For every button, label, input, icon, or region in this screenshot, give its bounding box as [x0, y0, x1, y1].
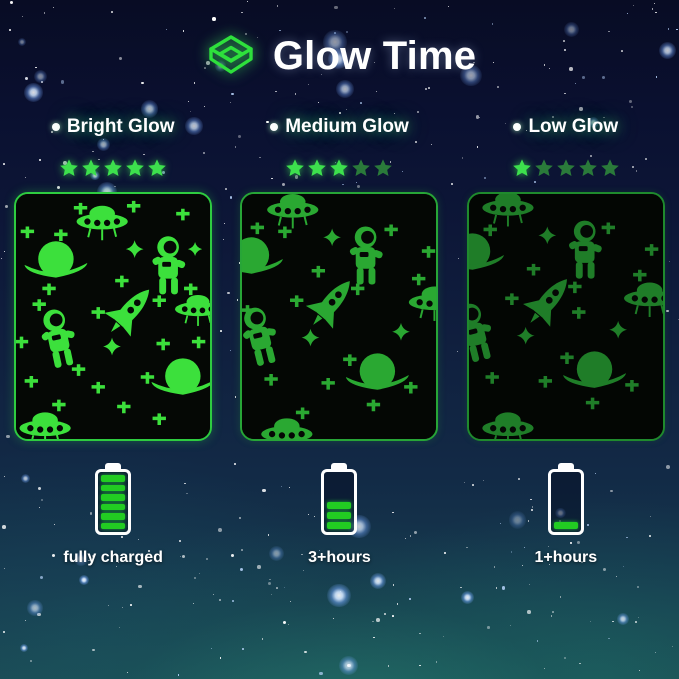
- battery-group-bright: fully charged: [63, 469, 163, 567]
- glow-mode-column-bright: Bright Glow: [0, 116, 226, 636]
- star-dot: [639, 670, 640, 671]
- battery-bar: [327, 502, 351, 509]
- star-dot: [608, 638, 610, 640]
- blanket-preview-bright: [14, 192, 212, 441]
- star-dot: [92, 649, 95, 652]
- star-dot: [631, 106, 633, 108]
- mode-label-text: Low Glow: [528, 116, 618, 138]
- star-dot: [579, 107, 582, 110]
- star-dot: [448, 6, 449, 7]
- star-dot: [564, 93, 566, 95]
- star-dot: [127, 672, 129, 674]
- battery-bar: [101, 513, 125, 520]
- battery-icon: [548, 469, 584, 535]
- battery-group-low: 1+hours: [534, 469, 597, 567]
- glow-star: [24, 83, 43, 102]
- star-dot: [44, 12, 46, 14]
- star-dim-icon: [556, 158, 576, 178]
- star-dot: [211, 648, 212, 649]
- star-dot: [425, 88, 427, 90]
- star-filled-icon: [512, 158, 532, 178]
- dot-icon: [270, 123, 278, 131]
- star-dim-icon: [600, 158, 620, 178]
- star-dot: [212, 17, 216, 21]
- star-rating-low: [512, 158, 620, 178]
- glow-mode-columns: Bright Glow: [0, 116, 679, 636]
- star-dot: [10, 1, 14, 5]
- star-dot: [652, 8, 654, 10]
- star-filled-icon: [147, 158, 167, 178]
- page-title: Glow Time: [273, 34, 476, 79]
- blanket-preview-low: [467, 192, 665, 441]
- star-dot: [295, 93, 297, 95]
- star-dot: [53, 7, 54, 8]
- star-dot: [346, 109, 347, 110]
- glow-mode-column-low: Low Glow: [453, 116, 679, 636]
- star-dot: [492, 23, 494, 25]
- star-dot: [111, 11, 113, 13]
- dot-icon: [513, 123, 521, 131]
- star-dot: [334, 6, 338, 10]
- star-dot: [190, 111, 191, 112]
- star-dot: [319, 672, 323, 676]
- mode-label-text: Bright Glow: [67, 116, 175, 138]
- star-dot: [247, 1, 248, 2]
- battery-group-medium: 3+hours: [308, 469, 371, 567]
- star-dot: [230, 102, 231, 103]
- glow-star: [141, 100, 159, 118]
- glow-time-infographic: Glow Time Bright Glow: [0, 0, 679, 679]
- battery-label: 1+hours: [534, 549, 597, 567]
- star-dot: [394, 113, 395, 114]
- battery-icon: [321, 469, 357, 535]
- star-dot: [428, 87, 430, 89]
- star-dot: [388, 665, 389, 666]
- dot-icon: [52, 123, 60, 131]
- star-dot: [241, 12, 243, 14]
- battery-bar: [101, 504, 125, 511]
- star-dot: [304, 651, 307, 654]
- star-dot: [262, 638, 264, 640]
- star-dot: [497, 86, 499, 88]
- star-dot: [30, 660, 32, 662]
- star-filled-icon: [329, 158, 349, 178]
- battery-bar: [101, 494, 125, 501]
- battery-bar: [327, 522, 351, 529]
- star-filled-icon: [81, 158, 101, 178]
- star-dot: [579, 663, 581, 665]
- star-dot: [537, 640, 539, 642]
- star-dim-icon: [351, 158, 371, 178]
- star-filled-icon: [307, 158, 327, 178]
- mode-label-low: Low Glow: [513, 116, 618, 138]
- star-dot: [419, 665, 421, 667]
- glow-mode-column-medium: Medium Glow: [226, 116, 452, 636]
- battery-bar: [554, 522, 578, 529]
- star-rating-bright: [59, 158, 167, 178]
- star-dot: [544, 668, 545, 669]
- star-dot: [672, 646, 673, 647]
- blanket-preview-medium: [240, 192, 438, 441]
- star-dot: [627, 13, 628, 14]
- star-dot: [231, 93, 233, 95]
- star-dot: [275, 91, 277, 93]
- mode-label-bright: Bright Glow: [52, 116, 175, 138]
- star-filled-icon: [125, 158, 145, 178]
- star-dot: [373, 637, 375, 639]
- star-dot: [424, 17, 426, 19]
- star-dot: [417, 111, 419, 113]
- battery-label: 3+hours: [308, 549, 371, 567]
- battery-icon: [95, 469, 131, 535]
- star-dot: [204, 106, 206, 108]
- glow-star: [339, 656, 358, 675]
- star-filled-icon: [59, 158, 79, 178]
- star-dot: [308, 84, 309, 85]
- star-dot: [220, 657, 222, 659]
- star-dot: [178, 674, 179, 675]
- star-dot: [188, 101, 189, 102]
- star-rating-medium: [285, 158, 393, 178]
- star-dot: [242, 648, 244, 650]
- mode-label-text: Medium Glow: [285, 116, 409, 138]
- star-filled-icon: [285, 158, 305, 178]
- star-dot: [394, 8, 395, 9]
- star-dot: [633, 5, 634, 6]
- folded-blanket-icon: [203, 28, 259, 84]
- star-dim-icon: [373, 158, 393, 178]
- star-dot: [629, 100, 632, 103]
- battery-bar: [101, 485, 125, 492]
- header: Glow Time: [0, 28, 679, 84]
- star-dot: [654, 3, 655, 4]
- star-dot: [339, 112, 341, 114]
- star-dot: [655, 12, 657, 14]
- star-dot: [436, 661, 437, 662]
- star-dot: [376, 91, 377, 92]
- star-dot: [318, 102, 319, 103]
- battery-label: fully charged: [63, 549, 163, 567]
- battery-bar: [101, 523, 125, 530]
- star-dot: [277, 5, 278, 6]
- mode-label-medium: Medium Glow: [270, 116, 409, 138]
- star-dot: [360, 102, 362, 104]
- star-dot: [347, 664, 351, 668]
- star-dot: [564, 657, 566, 659]
- star-dot: [655, 652, 657, 654]
- star-dim-icon: [534, 158, 554, 178]
- battery-bar: [327, 512, 351, 519]
- battery-bar: [101, 475, 125, 482]
- glow-star: [20, 644, 28, 652]
- star-dim-icon: [578, 158, 598, 178]
- star-dot: [22, 16, 23, 17]
- star-filled-icon: [103, 158, 123, 178]
